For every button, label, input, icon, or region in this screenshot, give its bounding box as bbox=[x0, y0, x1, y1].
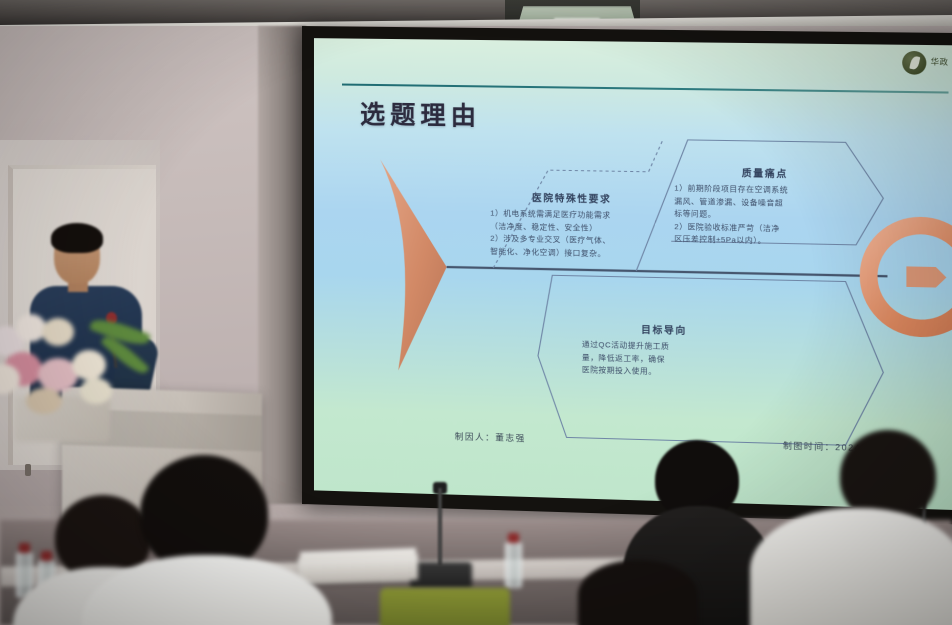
branch-heading: 目标导向 bbox=[582, 320, 747, 338]
fishbone-spine bbox=[447, 267, 888, 276]
chair bbox=[380, 588, 510, 625]
wall-curtain bbox=[258, 26, 306, 504]
flower-arrangement bbox=[0, 300, 176, 420]
flower bbox=[80, 378, 112, 404]
flower bbox=[42, 318, 74, 346]
branch-heading: 质量痛点 bbox=[674, 164, 856, 181]
audience-member bbox=[655, 440, 739, 520]
flower bbox=[72, 350, 106, 380]
branch-heading: 医院特殊性要求 bbox=[490, 189, 653, 206]
audience-member bbox=[140, 455, 268, 573]
table-microphone-base bbox=[410, 562, 472, 588]
paper-stack bbox=[298, 554, 418, 584]
audience-member bbox=[840, 430, 936, 522]
presenter-hair bbox=[51, 223, 103, 253]
audience-head bbox=[578, 560, 698, 625]
fishbone-branch-goal: 目标导向 通过QC活动提升施工质 量，降低返工率，确保 医院按期投入使用。 bbox=[582, 320, 747, 380]
table-microphone-stand bbox=[438, 488, 442, 566]
audience-member bbox=[578, 560, 698, 625]
fishbone-tail-icon bbox=[380, 159, 447, 371]
audience-torso bbox=[750, 508, 952, 625]
fishbone-branch-requirements: 医院特殊性要求 1）机电系统需满足医疗功能需求 （洁净度、稳定性、安全性） 2）… bbox=[490, 189, 653, 261]
door-knob bbox=[25, 464, 31, 476]
flower bbox=[26, 388, 62, 414]
water-bottle bbox=[505, 542, 522, 588]
fishbone-branch-pain-points: 质量痛点 1）前期阶段项目存在空调系统 漏风、管道渗漏、设备噪音超 标等问题。 … bbox=[674, 164, 856, 249]
presentation-photo-scene: 华政 选题理由 bbox=[0, 0, 952, 625]
fishbone-head-tag-icon bbox=[906, 266, 946, 287]
slide-footer-author: 制因人：董志强 bbox=[455, 430, 526, 444]
